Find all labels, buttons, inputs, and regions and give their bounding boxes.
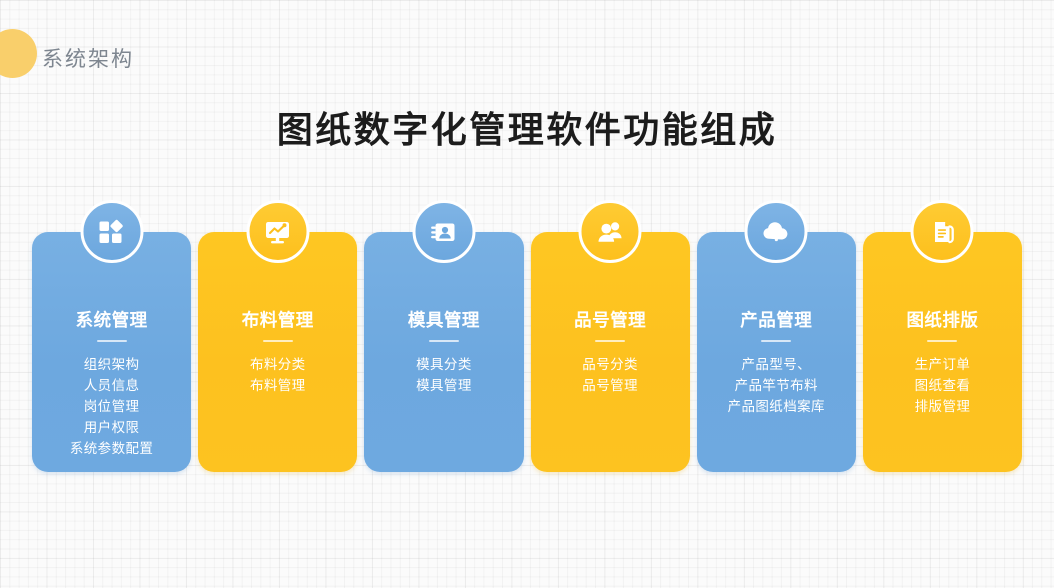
feature-item-list: 组织架构人员信息岗位管理用户权限系统参数配置 bbox=[32, 354, 191, 459]
feature-card-body: 系统管理组织架构人员信息岗位管理用户权限系统参数配置 bbox=[32, 232, 191, 472]
feature-item[interactable]: 系统参数配置 bbox=[37, 438, 186, 459]
feature-item[interactable]: 品号分类 bbox=[536, 354, 685, 375]
feature-card-title: 系统管理 bbox=[32, 310, 191, 331]
four-blocks-icon bbox=[80, 200, 143, 263]
feature-item[interactable]: 产品图纸档案库 bbox=[702, 396, 851, 417]
feature-card[interactable]: 图纸排版生产订单图纸查看排版管理 bbox=[863, 200, 1022, 475]
feature-card-body: 产品管理产品型号、产品竿节布料产品图纸档案库 bbox=[697, 232, 856, 472]
feature-card[interactable]: 系统管理组织架构人员信息岗位管理用户权限系统参数配置 bbox=[32, 200, 191, 475]
feature-card-body: 品号管理品号分类品号管理 bbox=[531, 232, 690, 472]
feature-item[interactable]: 岗位管理 bbox=[37, 396, 186, 417]
feature-item[interactable]: 产品型号、 bbox=[702, 354, 851, 375]
section-label: 系统架构 bbox=[42, 43, 134, 73]
feature-item-list: 布料分类布料管理 bbox=[198, 354, 357, 396]
card-divider bbox=[429, 340, 459, 342]
feature-card-title: 图纸排版 bbox=[863, 310, 1022, 331]
feature-item[interactable]: 图纸查看 bbox=[868, 375, 1017, 396]
feature-item[interactable]: 布料管理 bbox=[203, 375, 352, 396]
feature-card-title: 品号管理 bbox=[531, 310, 690, 331]
feature-card-title: 模具管理 bbox=[364, 310, 523, 331]
card-divider bbox=[263, 340, 293, 342]
feature-card[interactable]: 模具管理模具分类模具管理 bbox=[364, 200, 523, 475]
feature-card-row: 系统管理组织架构人员信息岗位管理用户权限系统参数配置 布料管理布料分类布料管理 … bbox=[32, 200, 1022, 475]
document-scroll-icon bbox=[911, 200, 974, 263]
feature-item[interactable]: 产品竿节布料 bbox=[702, 375, 851, 396]
feature-item-list: 产品型号、产品竿节布料产品图纸档案库 bbox=[697, 354, 856, 417]
card-divider bbox=[595, 340, 625, 342]
feature-item[interactable]: 生产订单 bbox=[868, 354, 1017, 375]
feature-item-list: 模具分类模具管理 bbox=[364, 354, 523, 396]
card-divider bbox=[927, 340, 957, 342]
feature-item[interactable]: 用户权限 bbox=[37, 417, 186, 438]
feature-item[interactable]: 品号管理 bbox=[536, 375, 685, 396]
cloud-upload-icon bbox=[745, 200, 808, 263]
feature-item[interactable]: 模具管理 bbox=[369, 375, 518, 396]
id-badge-icon bbox=[412, 200, 475, 263]
feature-item-list: 生产订单图纸查看排版管理 bbox=[863, 354, 1022, 417]
decorative-circle bbox=[0, 29, 37, 78]
card-divider bbox=[97, 340, 127, 342]
feature-card-body: 图纸排版生产订单图纸查看排版管理 bbox=[863, 232, 1022, 472]
feature-card[interactable]: 品号管理品号分类品号管理 bbox=[531, 200, 690, 475]
feature-item[interactable]: 模具分类 bbox=[369, 354, 518, 375]
feature-card[interactable]: 产品管理产品型号、产品竿节布料产品图纸档案库 bbox=[697, 200, 856, 475]
users-icon bbox=[579, 200, 642, 263]
monitor-chart-icon bbox=[246, 200, 309, 263]
feature-item[interactable]: 布料分类 bbox=[203, 354, 352, 375]
feature-card[interactable]: 布料管理布料分类布料管理 bbox=[198, 200, 357, 475]
feature-card-body: 布料管理布料分类布料管理 bbox=[198, 232, 357, 472]
feature-card-title: 产品管理 bbox=[697, 310, 856, 331]
feature-card-body: 模具管理模具分类模具管理 bbox=[364, 232, 523, 472]
feature-item[interactable]: 组织架构 bbox=[37, 354, 186, 375]
feature-item[interactable]: 人员信息 bbox=[37, 375, 186, 396]
feature-item-list: 品号分类品号管理 bbox=[531, 354, 690, 396]
page-title: 图纸数字化管理软件功能组成 bbox=[0, 101, 1054, 153]
feature-card-title: 布料管理 bbox=[198, 310, 357, 331]
feature-item[interactable]: 排版管理 bbox=[868, 396, 1017, 417]
card-divider bbox=[761, 340, 791, 342]
